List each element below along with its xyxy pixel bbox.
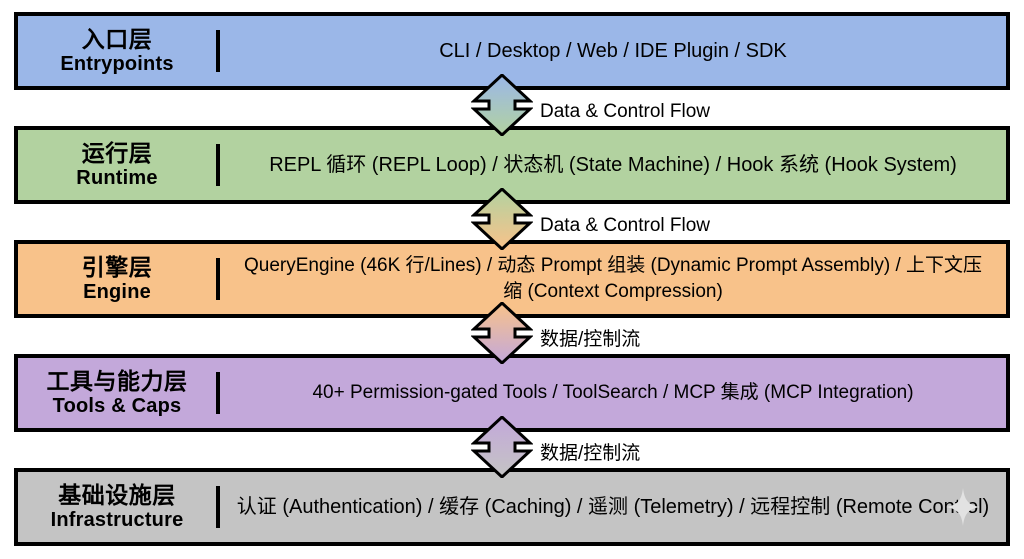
layer-content-runtime: REPL 循环 (REPL Loop) / 状态机 (State Machine… — [220, 130, 1006, 200]
layer-engine[interactable]: 引擎层 Engine QueryEngine (46K 行/Lines) / 动… — [14, 240, 1010, 318]
layer-label-infrastructure: 基础设施层 Infrastructure — [18, 472, 216, 542]
layer-label-engine: 引擎层 Engine — [18, 244, 216, 314]
layer-name-cn: 基础设施层 — [58, 483, 176, 509]
layer-name-en: Engine — [83, 281, 151, 303]
layer-label-runtime: 运行层 Runtime — [18, 130, 216, 200]
layer-content-engine: QueryEngine (46K 行/Lines) / 动态 Prompt 组装… — [220, 244, 1006, 314]
layer-runtime[interactable]: 运行层 Runtime REPL 循环 (REPL Loop) / 状态机 (S… — [14, 126, 1010, 204]
flow-label-4: 数据/控制流 — [540, 444, 640, 463]
layer-name-en: Runtime — [76, 167, 157, 189]
layer-content-tools-caps: 40+ Permission-gated Tools / ToolSearch … — [220, 358, 1006, 428]
layer-name-en: Tools & Caps — [53, 395, 182, 417]
flow-label-2: Data & Control Flow — [540, 216, 710, 235]
layer-name-cn: 入口层 — [82, 27, 153, 53]
layer-name-cn: 引擎层 — [82, 255, 153, 281]
layer-name-en: Infrastructure — [51, 509, 184, 531]
layer-infrastructure[interactable]: 基础设施层 Infrastructure 认证 (Authentication)… — [14, 468, 1010, 546]
layer-content-entrypoints: CLI / Desktop / Web / IDE Plugin / SDK — [220, 16, 1006, 86]
layer-label-entrypoints: 入口层 Entrypoints — [18, 16, 216, 86]
layer-name-en: Entrypoints — [60, 53, 173, 75]
layer-name-cn: 工具与能力层 — [47, 369, 188, 395]
layer-entrypoints[interactable]: 入口层 Entrypoints CLI / Desktop / Web / ID… — [14, 12, 1010, 90]
layer-tools-caps[interactable]: 工具与能力层 Tools & Caps 40+ Permission-gated… — [14, 354, 1010, 432]
flow-label-3: 数据/控制流 — [540, 330, 640, 349]
architecture-diagram: Data & Control Flow Data & Control Flow — [0, 0, 1024, 559]
layer-content-infrastructure: 认证 (Authentication) / 缓存 (Caching) / 遥测 … — [220, 472, 1006, 542]
layer-label-tools-caps: 工具与能力层 Tools & Caps — [18, 358, 216, 428]
layer-name-cn: 运行层 — [82, 141, 153, 167]
flow-label-1: Data & Control Flow — [540, 102, 710, 121]
